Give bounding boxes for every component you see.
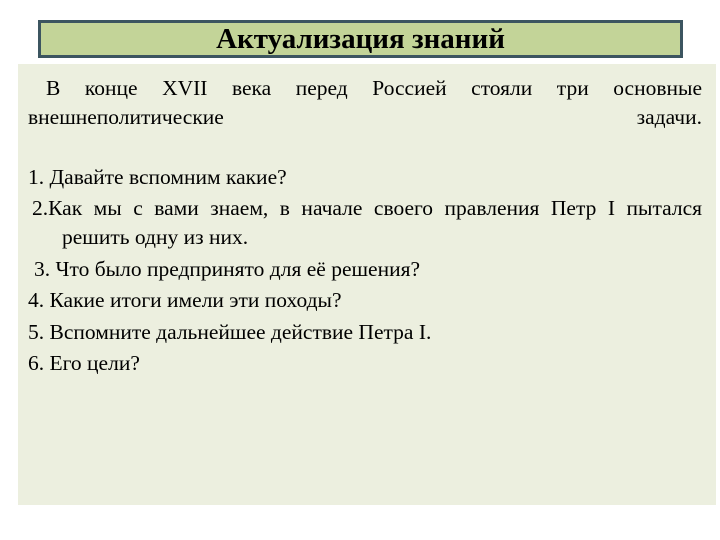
question-item-2: 2.Как мы с вами знаем, в начале своего п… xyxy=(28,194,706,251)
question-item-6: 6. Его цели? xyxy=(28,349,706,378)
question-item-1: 1. Давайте вспомним какие? xyxy=(28,163,706,192)
page-title: Актуализация знаний xyxy=(216,25,505,54)
question-item-3: 3. Что было предпринято для её решения? xyxy=(28,255,706,284)
slide-content-panel: В конце XVII века перед Россией стояли т… xyxy=(18,64,716,505)
lead-paragraph: В конце XVII века перед Россией стояли т… xyxy=(28,74,706,160)
question-item-5: 5. Вспомните дальнейшее действие Петра I… xyxy=(28,318,706,347)
slide-title-banner: Актуализация знаний xyxy=(38,20,683,58)
question-item-4: 4. Какие итоги имели эти походы? xyxy=(28,286,706,315)
slide: Актуализация знаний В конце XVII века пе… xyxy=(0,0,720,540)
